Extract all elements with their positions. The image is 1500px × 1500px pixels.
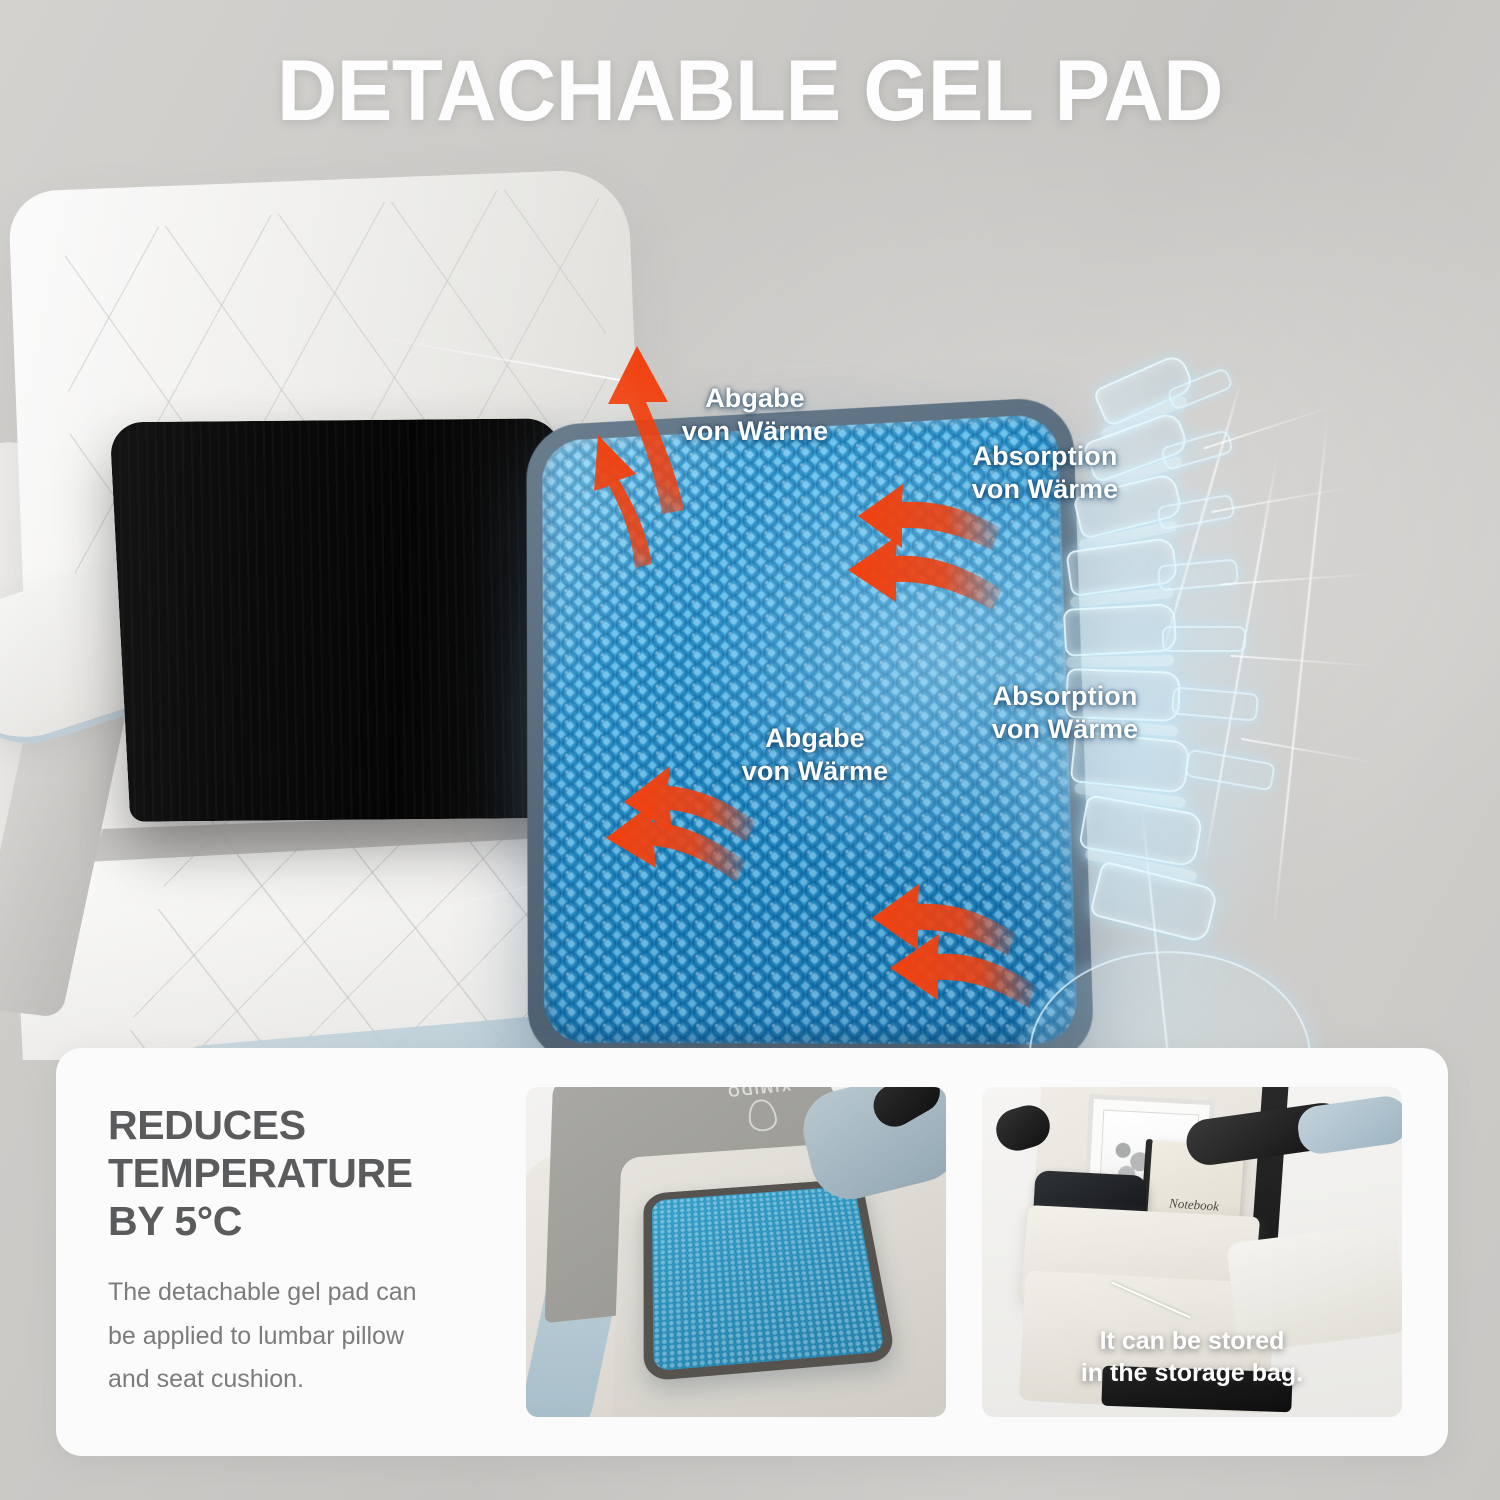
label-emit-heat-bottom: Abgabe von Wärme [700,722,930,788]
feature-description: The detachable gel pad can be applied to… [108,1271,492,1402]
feature-card-text: REDUCES TEMPERATURE BY 5°C The detachabl… [56,1102,526,1401]
brand-crest-icon [746,1098,778,1133]
thumbnail-gel-pad-on-seat: XIMIDO [526,1087,946,1417]
arrow-absorb-heat-bottom-a [872,884,1016,956]
page-title: DETACHABLE GEL PAD [23,48,1478,134]
chair-armrest-black-cap [866,1087,946,1134]
hero-scene: Abgabe von Wärme Absorption von Wärme Ab… [0,150,1500,1060]
feature-heading: REDUCES TEMPERATURE BY 5°C [108,1102,492,1245]
brand-name: XIMIDO [725,1087,792,1100]
arrow-emit-heat-top-b [594,435,652,568]
storage-bag-caption: It can be stored in the storage bag. [982,1326,1402,1389]
thumbnail-storage-bag: Notebook It can be stored in the storage… [982,1087,1402,1417]
page-canvas: DETACHABLE GEL PAD [0,0,1500,1500]
label-emit-heat-top: Abgabe von Wärme [640,382,870,448]
label-absorb-heat-bottom: Absorption von Wärme [940,680,1190,746]
gel-pad-on-seat [643,1178,896,1381]
heat-flow-arrows [0,150,1500,1060]
arrow-absorb-heat-top-b [848,536,1002,610]
feature-card: REDUCES TEMPERATURE BY 5°C The detachabl… [56,1048,1448,1456]
label-absorb-heat-top: Absorption von Wärme [920,440,1170,506]
